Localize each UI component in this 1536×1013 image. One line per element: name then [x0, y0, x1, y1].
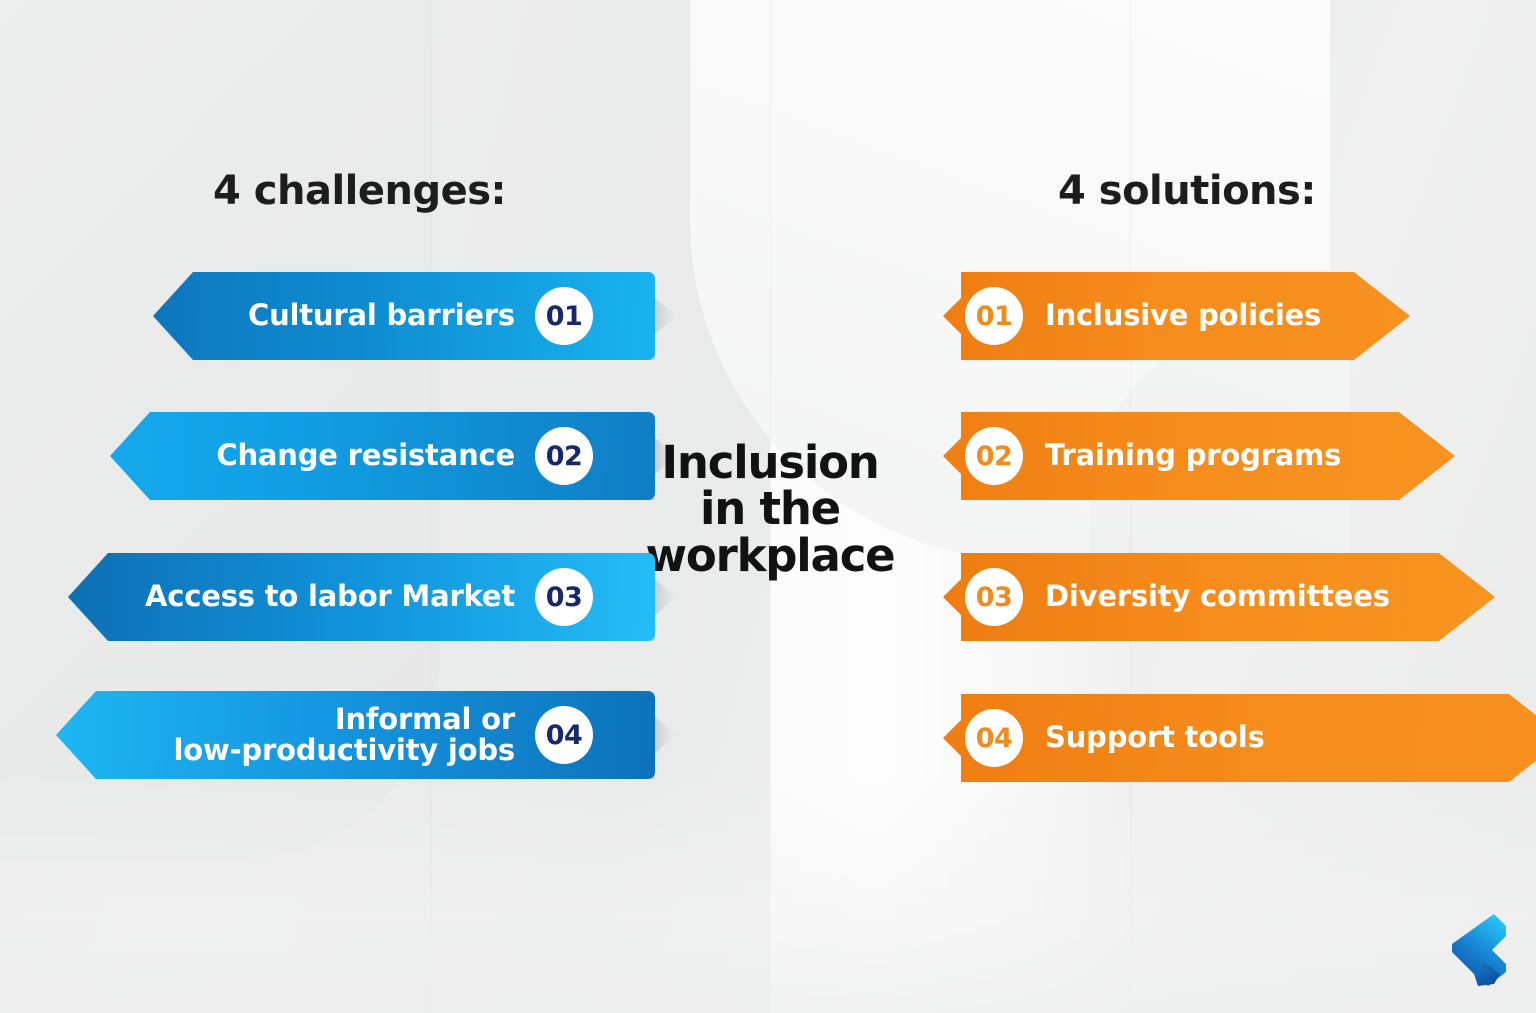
challenge-label-03: Access to labor Market [145, 581, 515, 612]
challenge-number-01: 01 [535, 287, 593, 345]
solution-number-02: 02 [965, 427, 1023, 485]
page-title-line-1: Inclusion [620, 440, 920, 486]
challenge-label-04: Informal or low-productivity jobs [174, 704, 515, 767]
solutions-heading: 4 solutions: [1058, 168, 1316, 214]
challenge-banner-04[interactable]: Informal or low-productivity jobs 04 [56, 691, 655, 779]
solution-number-04: 04 [965, 709, 1023, 767]
chevron-logo-icon [1448, 912, 1510, 988]
solution-banner-01[interactable]: 01 Inclusive policies [943, 272, 1410, 360]
challenge-number-02: 02 [535, 427, 593, 485]
infographic-canvas: 4 challenges: 4 solutions: Inclusion in … [0, 0, 1536, 1013]
solution-banner-04[interactable]: 04 Support tools [943, 694, 1536, 782]
challenges-heading: 4 challenges: [213, 168, 506, 214]
solution-label-01: Inclusive policies [1045, 300, 1321, 331]
solution-label-03: Diversity committees [1045, 581, 1390, 612]
challenge-number-04: 04 [535, 706, 593, 764]
solution-number-03: 03 [965, 568, 1023, 626]
challenge-banner-02[interactable]: Change resistance 02 [110, 412, 655, 500]
solution-banner-02[interactable]: 02 Training programs [943, 412, 1455, 500]
challenge-banner-03[interactable]: Access to labor Market 03 [68, 553, 655, 641]
page-title-line-2: in the [620, 486, 920, 532]
challenge-label-01: Cultural barriers [248, 300, 515, 331]
challenge-number-03: 03 [535, 568, 593, 626]
page-title: Inclusion in the workplace [620, 440, 920, 579]
page-title-line-3: workplace [620, 533, 920, 579]
solution-number-01: 01 [965, 287, 1023, 345]
challenge-label-02: Change resistance [216, 440, 515, 471]
solution-banner-03[interactable]: 03 Diversity committees [943, 553, 1495, 641]
solution-label-04: Support tools [1045, 722, 1265, 753]
background-bottom-wash [0, 773, 1536, 1013]
solution-label-02: Training programs [1045, 440, 1341, 471]
challenge-banner-01[interactable]: Cultural barriers 01 [153, 272, 655, 360]
